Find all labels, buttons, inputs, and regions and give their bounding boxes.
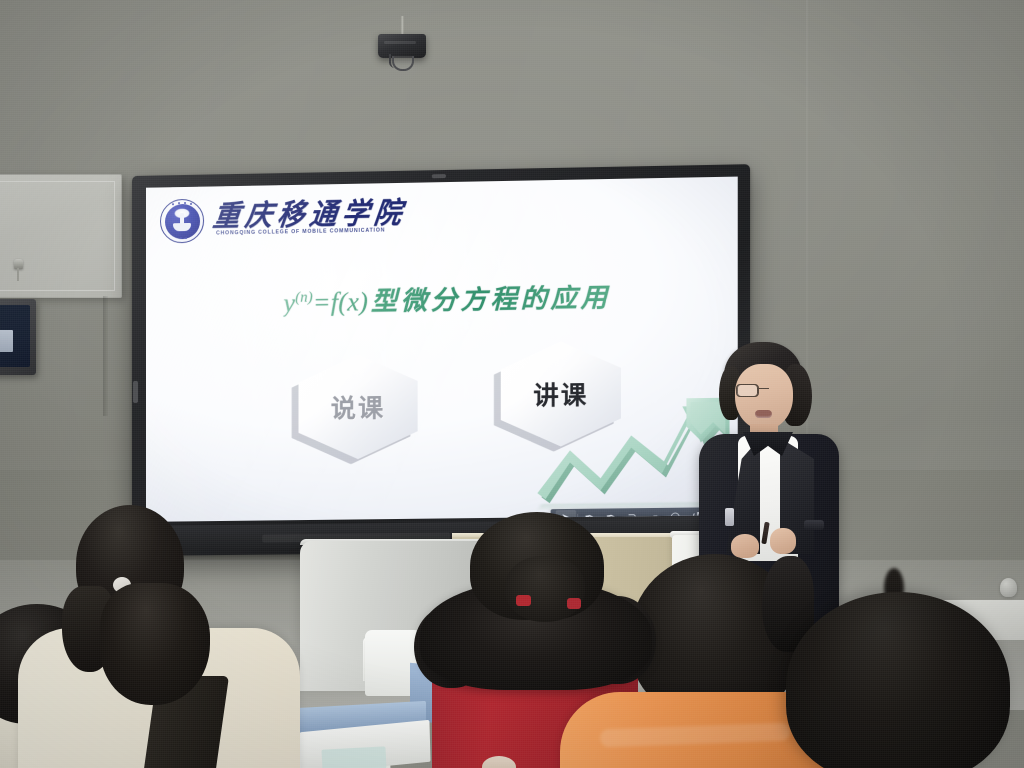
title-formula-arg: (x)	[338, 287, 368, 317]
wall-corner-shadow	[103, 296, 108, 416]
hex-button-shuoke[interactable]: 说课	[299, 354, 418, 460]
display-screen[interactable]: 重庆移通学院 CHONGQING COLLEGE OF MOBILE COMMU…	[146, 177, 738, 522]
student-ponytail-tail	[100, 583, 210, 705]
wall-rail-knob-icon	[1000, 578, 1017, 597]
wall-control-panel-ui[interactable]	[0, 330, 13, 352]
title-formula-sup: (n)	[295, 289, 313, 305]
hair-clip-icon-right	[567, 598, 581, 609]
cabinet-latch-stem	[17, 268, 19, 281]
hex-button-jiangke[interactable]: 讲课	[501, 341, 621, 448]
hex-button-label: 说课	[331, 388, 386, 425]
presenter-hand-left	[731, 534, 759, 558]
paper-sheet-teal	[321, 746, 386, 768]
title-formula-y: y	[283, 288, 295, 317]
student-right-foreground-head	[786, 592, 1010, 768]
presenter-mouth	[755, 410, 772, 418]
institution-name-en: CHONGQING COLLEGE OF MOBILE COMMUNICATIO…	[213, 229, 406, 238]
classroom-photo: 重庆移通学院 CHONGQING COLLEGE OF MOBILE COMMU…	[0, 0, 1024, 768]
presenter-sleeve-cuff	[804, 520, 824, 530]
power-button[interactable]	[133, 381, 138, 403]
title-formula-f: f	[331, 288, 339, 317]
title-formula-eq: =	[313, 288, 331, 317]
projector-cable	[389, 54, 396, 68]
title-text-cn: 型微分方程的应用	[368, 283, 611, 316]
interactive-flat-panel-display[interactable]: 重庆移通学院 CHONGQING COLLEGE OF MOBILE COMMU…	[132, 164, 750, 556]
camera-icon	[432, 174, 446, 178]
slide-logo-block: 重庆移通学院 CHONGQING COLLEGE OF MOBILE COMMU…	[160, 195, 406, 244]
university-crest-icon	[160, 199, 204, 244]
hex-button-label: 讲课	[533, 375, 588, 412]
presenter-badge	[725, 508, 734, 526]
student-red-jacket-bun	[505, 556, 585, 622]
presenter-hand-right	[770, 528, 796, 554]
eyeglasses-icon	[736, 384, 792, 395]
hair-clip-icon-left	[516, 595, 531, 606]
presenter-face	[735, 364, 793, 430]
slide-title: y(n)=f(x)型微分方程的应用	[283, 284, 610, 317]
projector-icon	[378, 34, 426, 58]
